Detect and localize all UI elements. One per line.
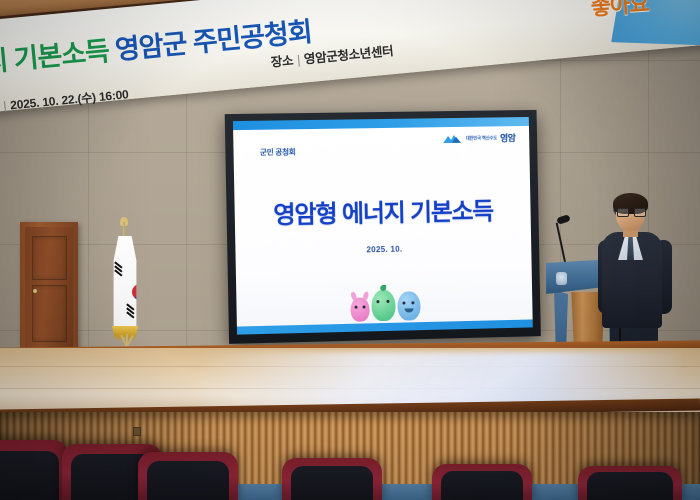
glasses-icon	[617, 208, 644, 215]
audience-seat	[432, 464, 532, 500]
door-leaf[interactable]	[25, 227, 73, 350]
banner-separator: |	[296, 53, 300, 67]
slogan-text-2: 좋아요	[590, 0, 649, 20]
slide-kicker: 군민 공청회	[260, 146, 296, 158]
audience-seat	[578, 466, 682, 500]
logo-tagline: 대한민국 혁신수도	[466, 135, 498, 141]
stage-door[interactable]	[20, 222, 78, 350]
slide-date: 2025. 10.	[235, 242, 531, 257]
banner-separator: |	[3, 99, 7, 113]
wall-outlet-icon	[133, 427, 141, 436]
banner-location-label: 장소	[270, 54, 294, 70]
slide-top-accent-bar	[233, 117, 529, 130]
blue-mascot-icon	[397, 291, 420, 320]
logo-wordmark: 영암	[500, 131, 516, 144]
mountain-icon	[443, 134, 463, 143]
presentation-slide: 군민 공청회 대한민국 혁신수도 영암 영암형 에너지 기본소득 2025. 1…	[233, 117, 533, 335]
slide-title: 영암형 에너지 기본소득	[234, 190, 530, 230]
korean-flag	[96, 222, 156, 354]
conference-photo-scene: 지 기본소득 영암군 주민공청회 장소|영암군청소년센터 일시|2025. 10…	[0, 0, 700, 500]
flag-cloth	[110, 236, 140, 330]
taeguk-circle-icon	[129, 281, 151, 303]
audience-seat	[138, 452, 238, 500]
slide-mascots	[236, 268, 533, 325]
banner-headline-green: 지 기본소득	[0, 36, 110, 78]
pink-mascot-icon	[350, 297, 369, 321]
yeongam-logo: 대한민국 혁신수도 영암	[443, 131, 516, 145]
door-knob-icon[interactable]	[33, 289, 37, 293]
banner-location-value: 영암군청소년센터	[303, 44, 394, 66]
podium-emblem-icon	[556, 272, 567, 285]
projection-screen: 군민 공청회 대한민국 혁신수도 영암 영암형 에너지 기본소득 2025. 1…	[225, 110, 541, 344]
audience-seat	[0, 440, 68, 500]
banner-slogan: 영암이 좋아요	[563, 0, 700, 49]
audience-seat	[282, 458, 382, 500]
green-mascot-icon	[371, 290, 396, 322]
